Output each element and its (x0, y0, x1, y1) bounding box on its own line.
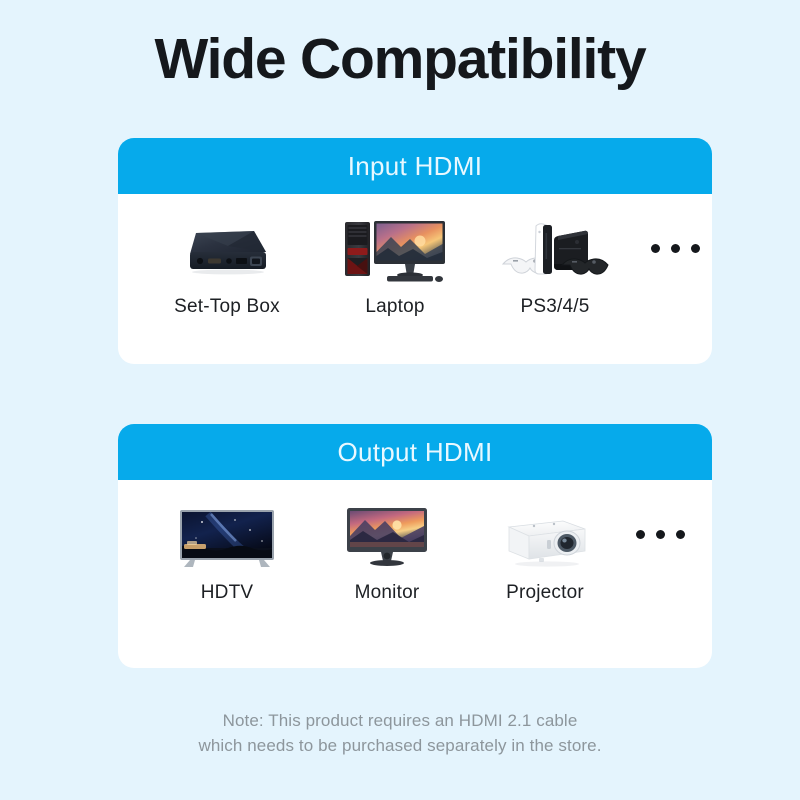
output-device-row: HDTV (118, 480, 712, 604)
footer-note-line-2: which needs to be purchased separately i… (0, 733, 800, 758)
footer-note: Note: This product requires an HDMI 2.1 … (0, 708, 800, 758)
device-label: Laptop (320, 296, 470, 318)
device-item-monitor: Monitor (312, 498, 462, 604)
projector-icon (470, 498, 620, 570)
input-more-indicator (630, 212, 712, 284)
device-item-laptop: Laptop (320, 212, 470, 318)
output-more-indicator (620, 498, 700, 570)
input-hdmi-header: Input HDMI (118, 138, 712, 194)
device-label: PS3/4/5 (480, 296, 630, 318)
device-item-hdtv: HDTV (152, 498, 302, 604)
compatibility-infographic: Wide Compatibility Input HDMI (0, 0, 800, 800)
desktop-computer-icon (320, 212, 470, 284)
television-icon (152, 498, 302, 570)
game-console-icon (480, 212, 630, 284)
page-title: Wide Compatibility (0, 27, 800, 93)
output-hdmi-body: HDTV (118, 480, 712, 668)
device-label: Monitor (312, 582, 462, 604)
input-hdmi-body: Set-Top Box (118, 194, 712, 364)
ellipsis-icon (636, 530, 685, 539)
set-top-box-icon (142, 212, 312, 284)
output-hdmi-card: Output HDMI (118, 424, 712, 668)
input-hdmi-card: Input HDMI (118, 138, 712, 364)
output-hdmi-header: Output HDMI (118, 424, 712, 480)
footer-note-line-1: Note: This product requires an HDMI 2.1 … (0, 708, 800, 733)
ellipsis-icon (651, 244, 700, 253)
device-item-game-console: PS3/4/5 (480, 212, 630, 318)
device-label: Projector (470, 582, 620, 604)
input-device-row: Set-Top Box (118, 194, 712, 318)
device-label: HDTV (152, 582, 302, 604)
device-item-projector: Projector (470, 498, 620, 604)
device-item-set-top-box: Set-Top Box (142, 212, 312, 318)
device-label: Set-Top Box (142, 296, 312, 318)
monitor-icon (312, 498, 462, 570)
